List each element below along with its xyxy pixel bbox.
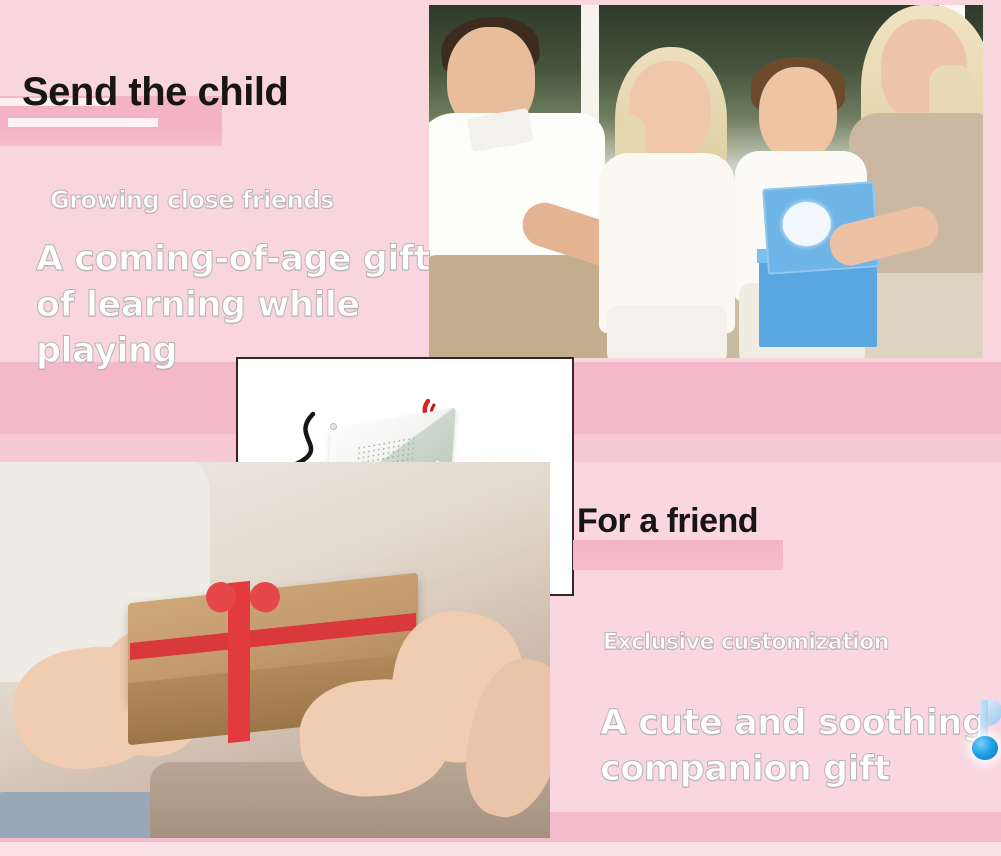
subheadline-coming-of-age-gift: A coming-of-age gift of learning while p… <box>36 236 446 374</box>
family-photo <box>429 5 983 358</box>
background-band-bottom-light <box>0 842 1001 856</box>
music-note-icon <box>966 700 1001 772</box>
subheadline-cute-soothing-companion-gift: A cute and soothing companion gift <box>600 700 990 792</box>
promo-banner: Send the child Growing close friends A c… <box>0 0 1001 856</box>
boy-head <box>759 67 837 161</box>
father-trousers <box>429 255 619 358</box>
red-ribbon-bow <box>212 578 274 620</box>
highlight-streak <box>8 118 158 127</box>
headline-for-a-friend: For a friend <box>577 502 758 541</box>
screw <box>330 423 337 430</box>
music-note-head <box>972 736 998 760</box>
headline-send-the-child: Send the child <box>22 70 288 115</box>
girl-legs <box>607 305 727 358</box>
gift-handoff-photo <box>0 462 550 838</box>
headline-highlight-band-bottom <box>573 540 783 570</box>
eyebrow-exclusive-customization: Exclusive customization <box>603 630 889 655</box>
eyebrow-growing-close-friends: Growing close friends <box>50 186 334 214</box>
music-note-flag <box>986 700 1001 726</box>
